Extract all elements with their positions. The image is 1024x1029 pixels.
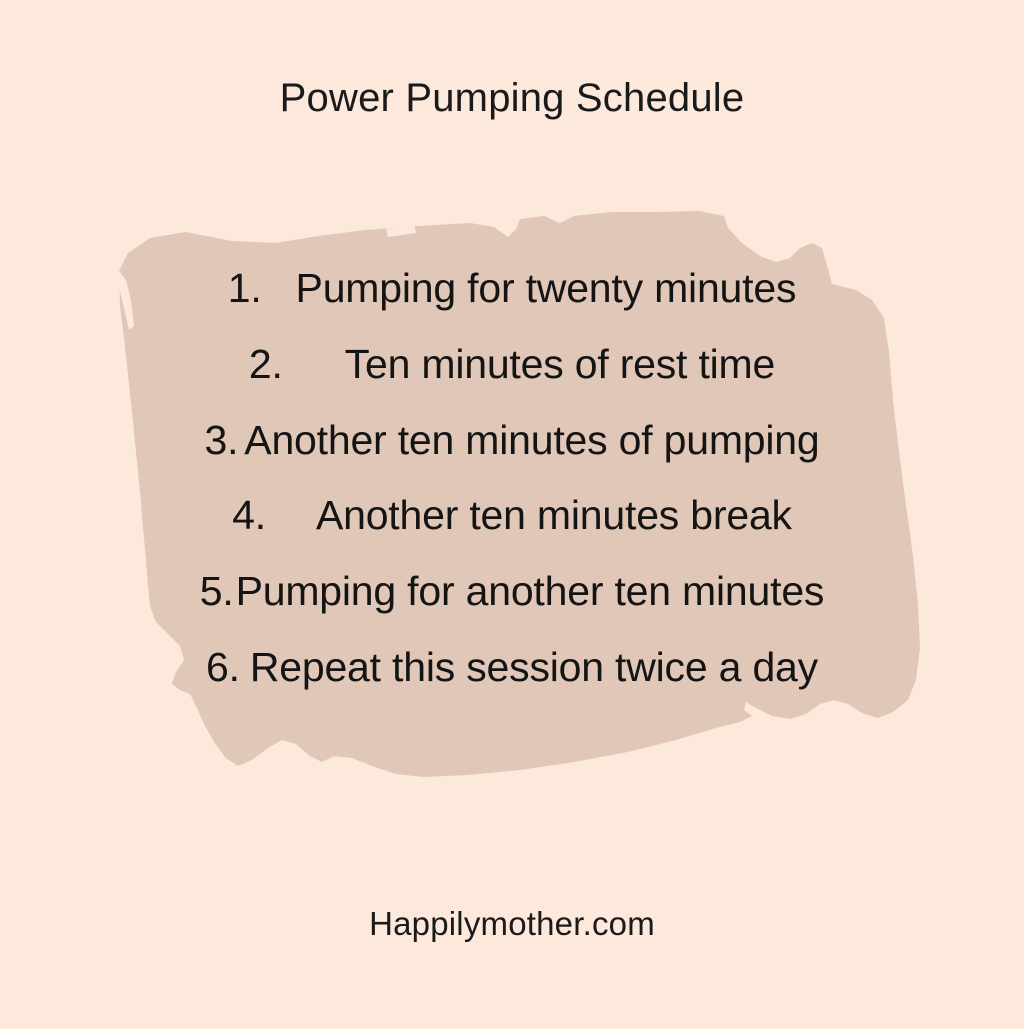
page-title: Power Pumping Schedule (0, 76, 1024, 120)
list-item: 2.Ten minutes of rest time (112, 344, 912, 385)
schedule-step-list: 1.Pumping for twenty minutes 2.Ten minut… (112, 268, 912, 688)
list-item: 4.Another ten minutes break (112, 495, 912, 536)
list-item-number: 4. (232, 492, 266, 538)
list-item-label: Another ten minutes break (316, 492, 792, 538)
list-item-label: Another ten minutes of pumping (244, 417, 819, 463)
list-item-number: 2. (249, 341, 283, 387)
list-item: 3.Another ten minutes of pumping (112, 420, 912, 461)
list-item-number: 3. (205, 417, 239, 463)
list-item-label: Repeat this session twice a day (250, 644, 818, 690)
list-item-number: 6. (206, 644, 240, 690)
list-item-label: Pumping for twenty minutes (296, 265, 797, 311)
list-item-number: 5. (200, 568, 234, 614)
list-item-label: Ten minutes of rest time (345, 341, 775, 387)
list-item: 1.Pumping for twenty minutes (112, 268, 912, 309)
list-item-label: Pumping for another ten minutes (236, 568, 825, 614)
list-item: 5.Pumping for another ten minutes (112, 571, 912, 612)
site-attribution: Happilymother.com (0, 905, 1024, 943)
brush-notch-detail (386, 225, 416, 237)
list-item-number: 1. (228, 265, 262, 311)
poster-canvas: Power Pumping Schedule 1.Pumping for twe… (0, 0, 1024, 1024)
list-item: 6.Repeat this session twice a day (112, 647, 912, 688)
